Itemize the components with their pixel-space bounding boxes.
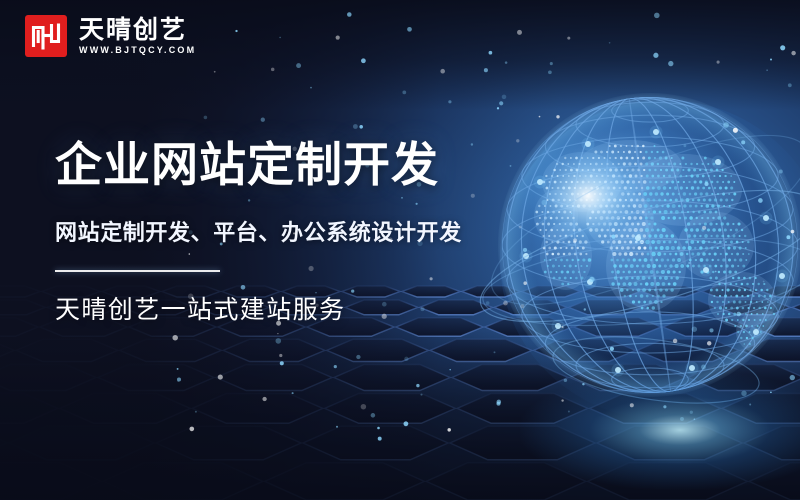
headline-block: 企业网站定制开发 网站定制开发、平台、办公系统设计开发 天晴创艺一站式建站服务 <box>55 140 462 325</box>
tianqing-chuangyi-logo-mark-icon <box>24 14 68 58</box>
logo-website-url: WWW.BJTQCY.COM <box>79 46 196 55</box>
divider <box>55 270 220 272</box>
subtitle: 网站定制开发、平台、办公系统设计开发 <box>55 219 462 247</box>
dotted-world-globe <box>470 70 800 430</box>
brand-logo[interactable]: 天晴创艺 WWW.BJTQCY.COM <box>24 14 196 58</box>
logo-text-block: 天晴创艺 WWW.BJTQCY.COM <box>79 18 196 55</box>
promo-banner: 天晴创艺 WWW.BJTQCY.COM 企业网站定制开发 网站定制开发、平台、办… <box>0 0 800 500</box>
tagline: 天晴创艺一站式建站服务 <box>55 295 462 325</box>
page-title: 企业网站定制开发 <box>55 140 462 193</box>
logo-company-name: 天晴创艺 <box>79 18 196 43</box>
